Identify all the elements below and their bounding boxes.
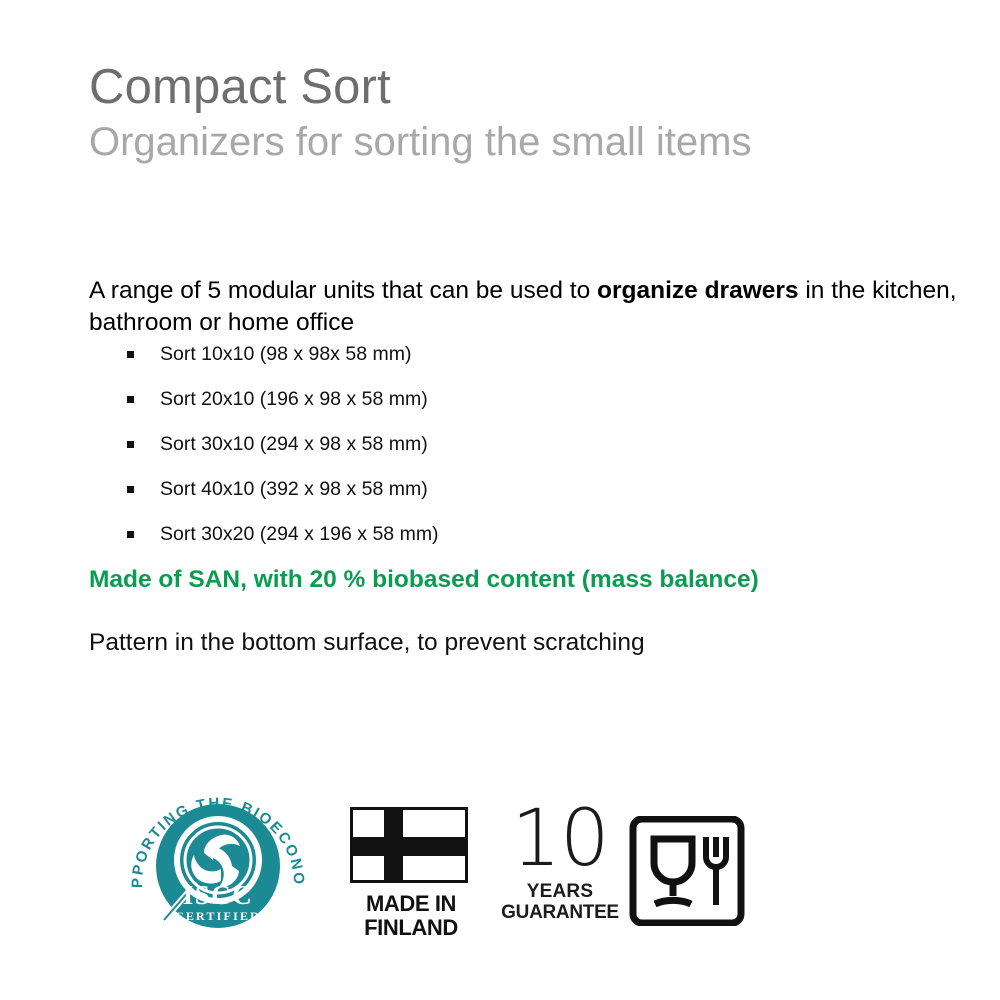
list-item-label: Sort 10x10 (98 x 98x 58 mm) <box>160 332 411 377</box>
food-safe-badge <box>628 816 746 926</box>
square-bullet-icon <box>127 441 134 448</box>
list-item: Sort 30x20 (294 x 196 x 58 mm) <box>89 512 789 557</box>
intro-text-bold: organize drawers <box>597 277 799 304</box>
list-item: Sort 10x10 (98 x 98x 58 mm) <box>89 332 789 377</box>
intro-paragraph: A range of 5 modular units that can be u… <box>89 275 969 340</box>
list-item: Sort 30x10 (294 x 98 x 58 mm) <box>89 422 789 467</box>
list-item-label: Sort 30x10 (294 x 98 x 58 mm) <box>160 422 428 467</box>
slide-page: Compact Sort Organizers for sorting the … <box>0 0 1000 1000</box>
finland-flag-icon <box>350 807 468 883</box>
made-in-finland-badge: MADE IN FINLAND <box>350 807 472 940</box>
square-bullet-icon <box>127 396 134 403</box>
square-bullet-icon <box>127 351 134 358</box>
iscc-certified-badge: SUPPORTING THE BIOECONOMY ISCC C <box>120 780 316 940</box>
certification-badge-row: SUPPORTING THE BIOECONOMY ISCC C <box>120 780 820 950</box>
iscc-status: CERTIFIED <box>175 909 261 923</box>
list-item-label: Sort 30x20 (294 x 196 x 58 mm) <box>160 512 439 557</box>
flag-horizontal-bar <box>353 837 465 856</box>
biobased-highlight-text: Made of SAN, with 20 % biobased content … <box>89 566 759 594</box>
guarantee-badge: 10 YEARS GUARANTEE <box>501 804 619 924</box>
food-safe-icon <box>628 816 746 926</box>
iscc-wordmark: ISCC <box>183 880 254 910</box>
list-item: Sort 40x10 (392 x 98 x 58 mm) <box>89 467 789 512</box>
guarantee-number: 10 <box>501 804 619 876</box>
finland-caption-line1: MADE IN <box>350 892 472 916</box>
page-subtitle: Organizers for sorting the small items <box>89 119 949 166</box>
square-bullet-icon <box>127 486 134 493</box>
guarantee-label: GUARANTEE <box>501 903 619 924</box>
list-item: Sort 20x10 (196 x 98 x 58 mm) <box>89 377 789 422</box>
list-item-label: Sort 20x10 (196 x 98 x 58 mm) <box>160 377 428 422</box>
iscc-logo-icon: SUPPORTING THE BIOECONOMY ISCC C <box>120 780 316 940</box>
pattern-note-text: Pattern in the bottom surface, to preven… <box>89 629 645 657</box>
flag-vertical-bar <box>384 810 403 880</box>
finland-caption-line2: FINLAND <box>350 916 472 940</box>
heading-block: Compact Sort Organizers for sorting the … <box>89 62 949 166</box>
intro-text-before: A range of 5 modular units that can be u… <box>89 277 597 304</box>
page-title: Compact Sort <box>89 62 949 113</box>
square-bullet-icon <box>127 531 134 538</box>
product-size-list: Sort 10x10 (98 x 98x 58 mm) Sort 20x10 (… <box>89 332 789 557</box>
guarantee-years-label: YEARS <box>501 882 619 903</box>
list-item-label: Sort 40x10 (392 x 98 x 58 mm) <box>160 467 428 512</box>
